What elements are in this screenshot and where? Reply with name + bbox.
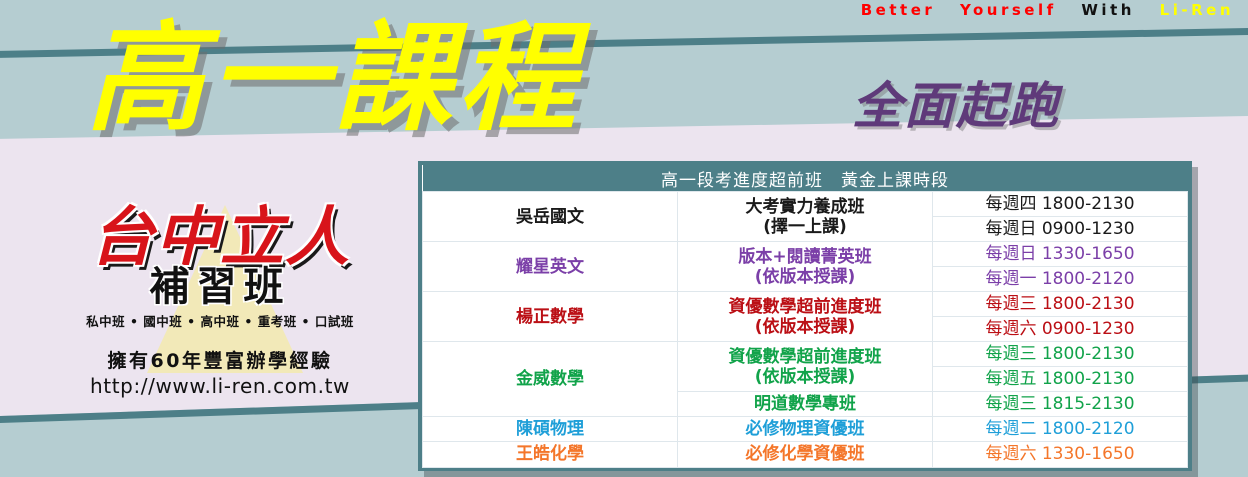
class-time-cell: 每週六 1330-1650 bbox=[933, 442, 1188, 467]
course-name-cell: 資優數學超前進度班(依版本授課) bbox=[678, 292, 933, 342]
logo-type: 補習班 bbox=[55, 266, 385, 308]
class-time-cell: 每週日 1330-1650 bbox=[933, 242, 1188, 267]
table-row: 金威數學資優數學超前進度班(依版本授課)每週三 1800-2130 bbox=[423, 342, 1188, 367]
teacher-name-cell: 楊正數學 bbox=[423, 292, 678, 342]
schedule-table-title: 高一段考進度超前班 黃金上課時段 bbox=[423, 165, 1188, 192]
tagline-better: Better bbox=[861, 1, 936, 19]
class-time-cell: 每週三 1800-2130 bbox=[933, 292, 1188, 317]
teacher-name-cell: 吳岳國文 bbox=[423, 192, 678, 242]
tagline-with: With bbox=[1081, 1, 1135, 19]
schedule-table-container: 高一段考進度超前班 黃金上課時段 吳岳國文大考實力養成班(擇一上課)每週四 18… bbox=[418, 161, 1192, 471]
course-name-cell: 必修化學資優班 bbox=[678, 442, 933, 467]
class-time-cell: 每週三 1800-2130 bbox=[933, 342, 1188, 367]
page-subtitle: 全面起跑 bbox=[852, 66, 1060, 138]
poster-canvas: Better Yourself With Li-Ren 高一課程 全面起跑 台中… bbox=[0, 0, 1248, 477]
class-time-cell: 每週四 1800-2130 bbox=[933, 192, 1188, 217]
table-row: 楊正數學資優數學超前進度班(依版本授課)每週三 1800-2130 bbox=[423, 292, 1188, 317]
logo-name: 台中立人 bbox=[55, 205, 385, 270]
schedule-table: 高一段考進度超前班 黃金上課時段 吳岳國文大考實力養成班(擇一上課)每週四 18… bbox=[422, 165, 1188, 468]
class-time-cell: 每週二 1800-2120 bbox=[933, 417, 1188, 442]
class-time-cell: 每週三 1815-2130 bbox=[933, 392, 1188, 417]
course-name-cell: 版本+閱讀菁英班(依版本授課) bbox=[678, 242, 933, 292]
class-time-cell: 每週六 0900-1230 bbox=[933, 317, 1188, 342]
teacher-name-cell: 陳碩物理 bbox=[423, 417, 678, 442]
teacher-name-cell: 耀星英文 bbox=[423, 242, 678, 292]
class-time-cell: 每週五 1800-2130 bbox=[933, 367, 1188, 392]
course-name-cell: 必修物理資優班 bbox=[678, 417, 933, 442]
table-row: 陳碩物理必修物理資優班每週二 1800-2120 bbox=[423, 417, 1188, 442]
logo-website-url: http://www.li-ren.com.tw bbox=[55, 374, 385, 398]
table-row: 吳岳國文大考實力養成班(擇一上課)每週四 1800-2130 bbox=[423, 192, 1188, 217]
class-time-cell: 每週一 1800-2120 bbox=[933, 267, 1188, 292]
brand-logo: 台中立人 補習班 私中班 • 國中班 • 高中班 • 重考班 • 口試班 擁有6… bbox=[55, 205, 385, 398]
page-title: 高一課程 bbox=[86, 16, 582, 140]
teacher-name-cell: 王皓化學 bbox=[423, 442, 678, 467]
course-name-cell: 明道數學專班 bbox=[678, 392, 933, 417]
table-header-row: 高一段考進度超前班 黃金上課時段 bbox=[423, 165, 1188, 192]
schedule-table-body: 吳岳國文大考實力養成班(擇一上課)每週四 1800-2130每週日 0900-1… bbox=[423, 192, 1188, 468]
class-time-cell: 每週日 0900-1230 bbox=[933, 217, 1188, 242]
logo-class-tags: 私中班 • 國中班 • 高中班 • 重考班 • 口試班 bbox=[55, 311, 385, 330]
tagline-yourself: Yourself bbox=[960, 1, 1057, 19]
logo-experience: 擁有60年豐富辦學經驗 bbox=[55, 346, 385, 373]
course-name-cell: 大考實力養成班(擇一上課) bbox=[678, 192, 933, 242]
course-name-cell: 資優數學超前進度班(依版本授課) bbox=[678, 342, 933, 392]
table-row: 耀星英文版本+閱讀菁英班(依版本授課)每週日 1330-1650 bbox=[423, 242, 1188, 267]
table-row: 王皓化學必修化學資優班每週六 1330-1650 bbox=[423, 442, 1188, 467]
tagline-liren: Li-Ren bbox=[1160, 1, 1234, 19]
teacher-name-cell: 金威數學 bbox=[423, 342, 678, 417]
